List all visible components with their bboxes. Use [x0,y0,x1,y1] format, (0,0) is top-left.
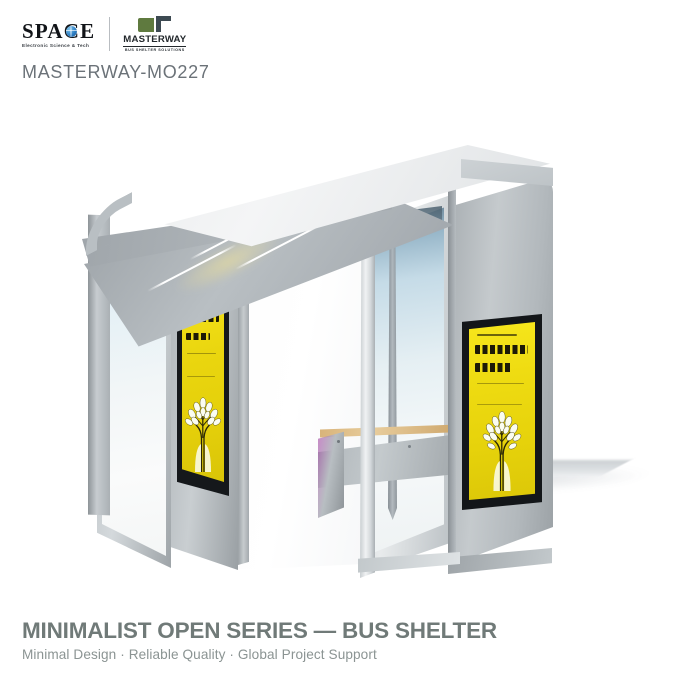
tree-illustration [183,386,223,472]
mark-block-green [138,18,154,32]
masterway-mark-icon [138,16,171,32]
product-render [0,100,700,600]
rear-glass-panel [374,204,444,556]
product-catalog-page: SPACE Electronic Science & Tech MASTERWA… [0,0,700,700]
roof-front-fascia [461,159,553,211]
product-code: MASTERWAY-MO227 [22,62,210,83]
right-ad-poster [469,322,535,500]
space-tagline: Electronic Science & Tech [22,43,89,48]
logo-divider [109,17,110,51]
logo-bar: SPACE Electronic Science & Tech MASTERWA… [22,14,186,54]
globe-icon [66,26,77,37]
masterway-tagline: BUS SHELTER SOLUTIONS [125,48,185,52]
bench-left-leg [318,430,344,518]
right-ad-display-screen[interactable] [469,322,535,500]
footer-subtitle: Minimal Design · Reliable Quality · Glob… [22,647,377,662]
masterway-wordmark: MASTERWAY [123,34,186,45]
page-footer: MINIMALIST OPEN SERIES — BUS SHELTER Min… [0,604,700,700]
shelter-roof [80,145,550,255]
page-header: SPACE Electronic Science & Tech MASTERWA… [0,0,700,100]
masterway-rule [123,46,186,47]
footer-title: MINIMALIST OPEN SERIES — BUS SHELTER [22,618,497,644]
mark-block-arm [161,16,171,21]
space-logo: SPACE Electronic Science & Tech [22,20,95,48]
mark-block-stem [156,16,161,32]
masterway-logo: MASTERWAY BUS SHELTER SOLUTIONS [123,16,186,52]
tree-illustration [472,399,532,491]
space-wordmark: SPACE [22,20,95,42]
